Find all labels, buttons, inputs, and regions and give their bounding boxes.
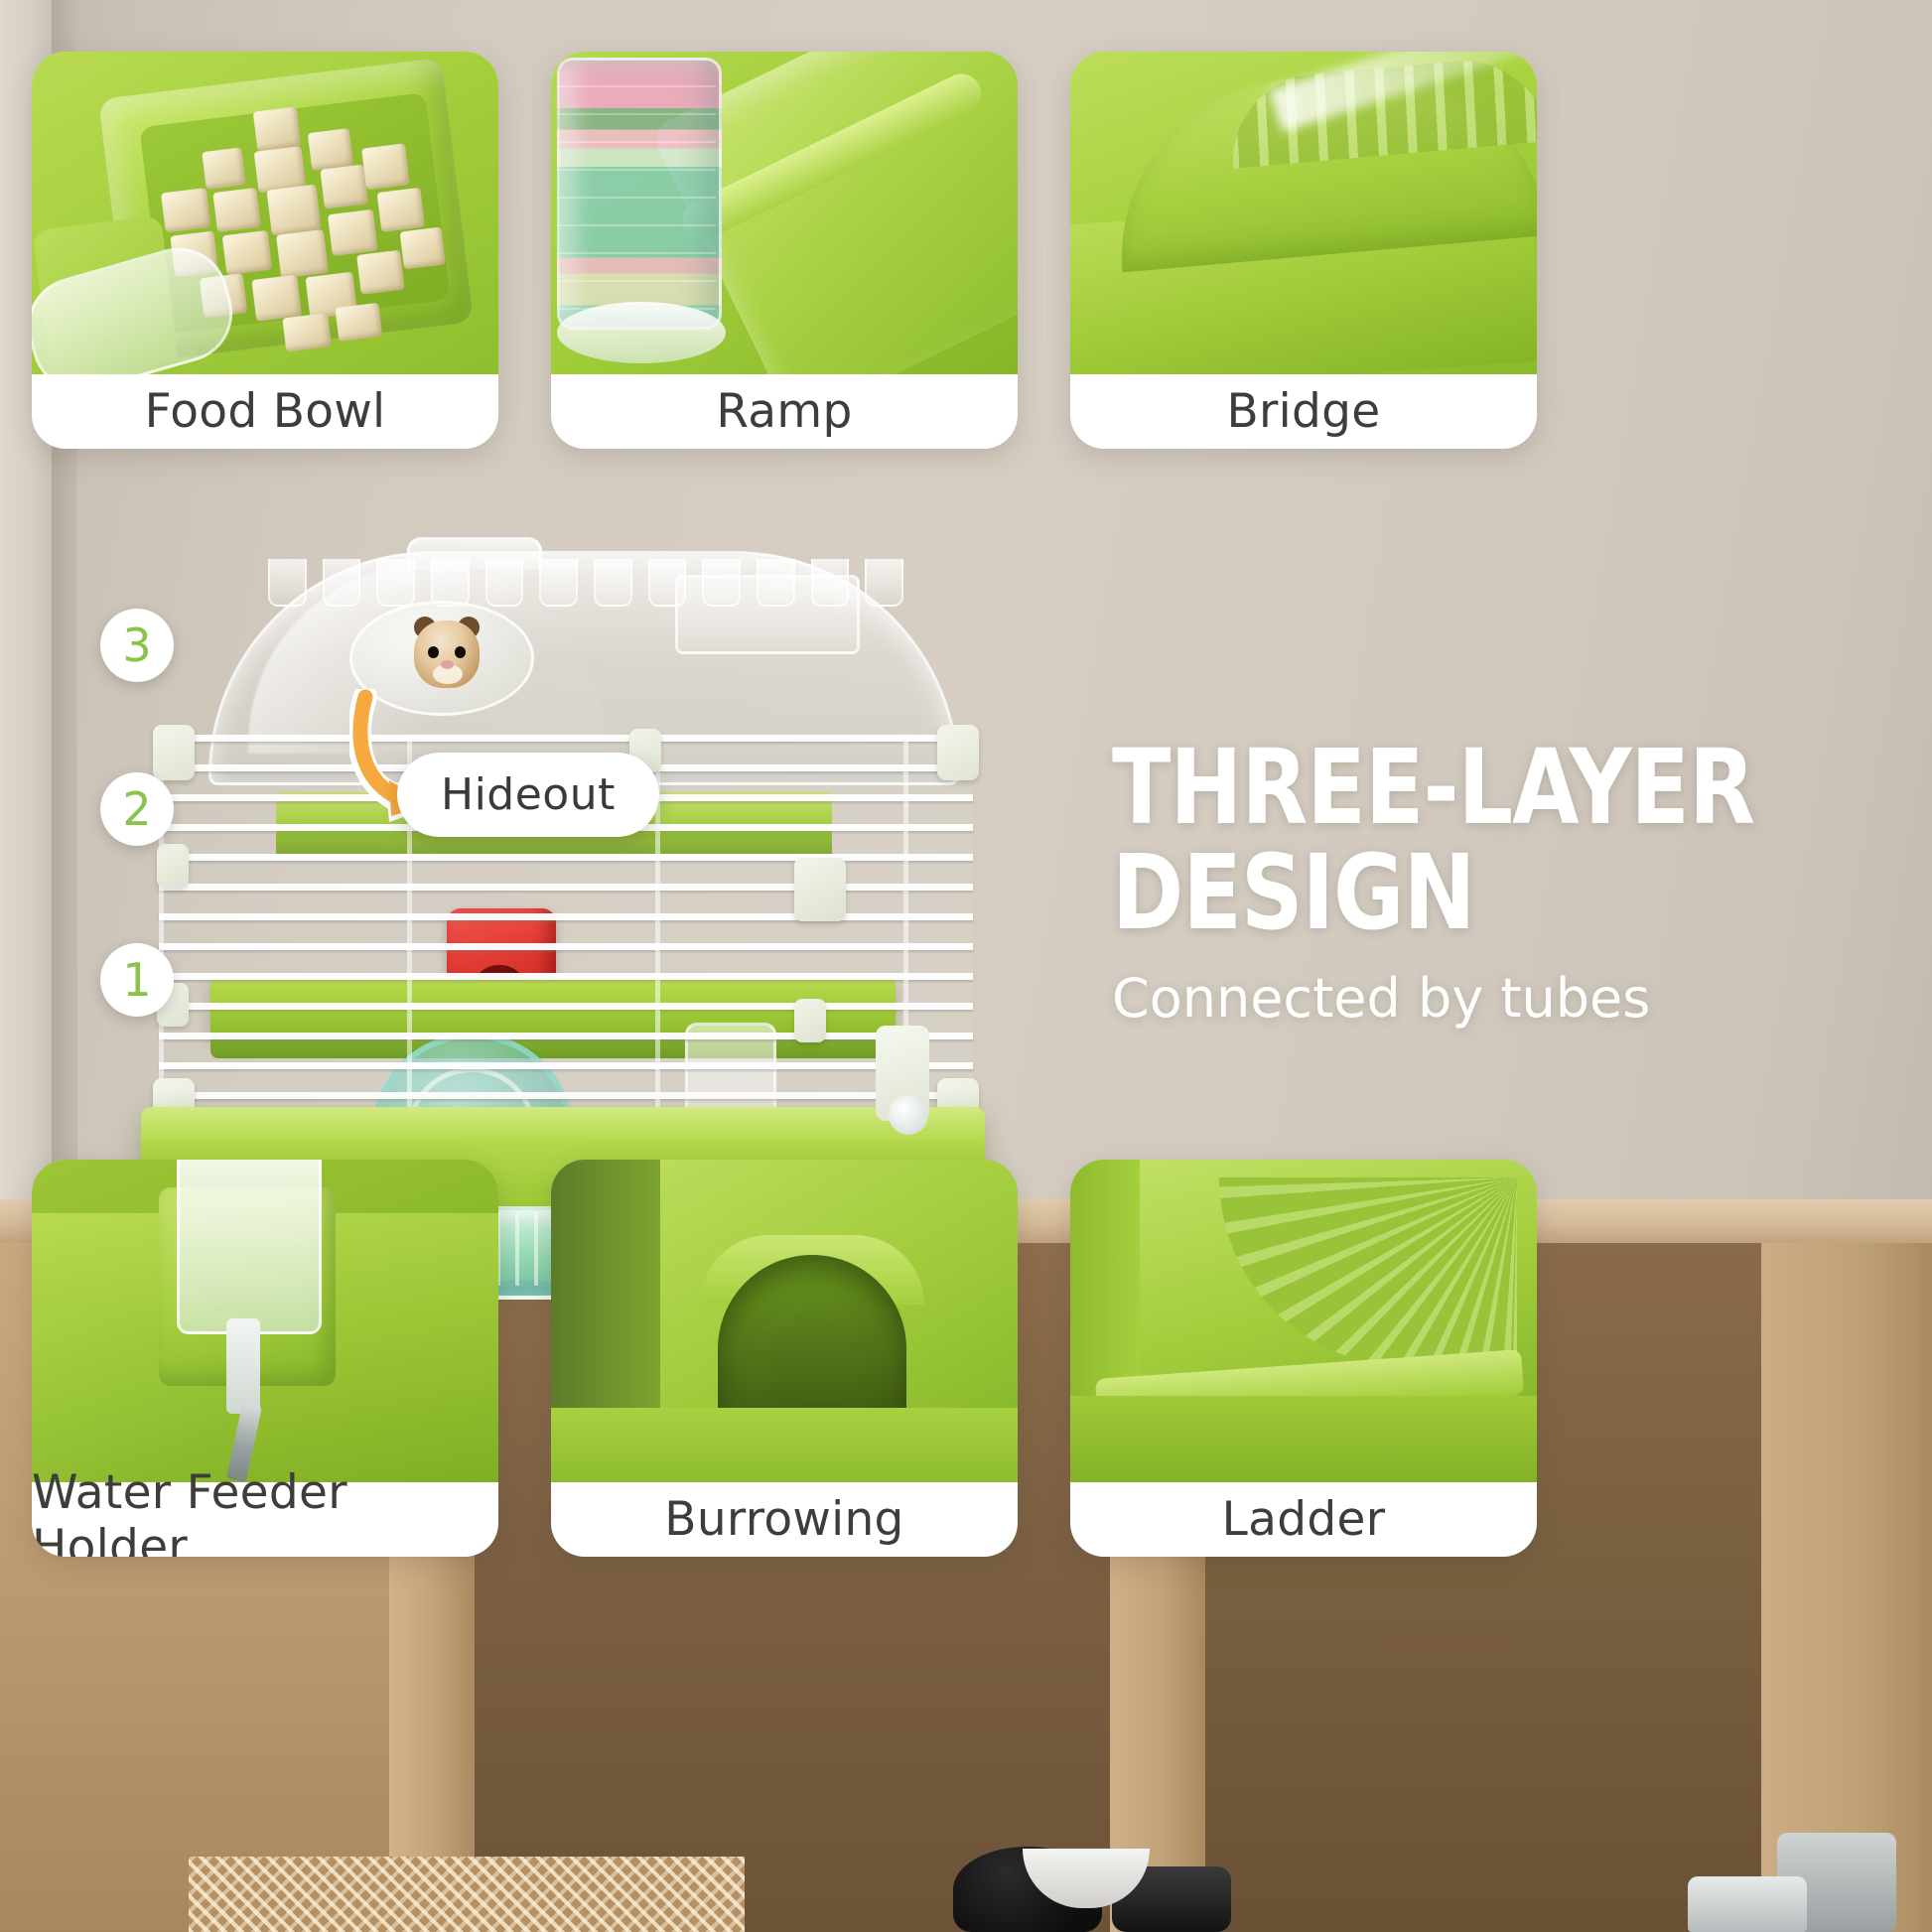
infographic-canvas: PawHut 3 2 1 Hideout THREE-LAYER DESIGN … [0, 0, 1932, 1932]
feature-card-ramp: Ramp [551, 52, 1018, 449]
layer-marker-3-label: 3 [122, 619, 151, 672]
cage-side-clip-right-lower [794, 999, 826, 1042]
headline-subtitle: Connected by tubes [1112, 967, 1906, 1030]
feature-caption-bridge: Bridge [1070, 374, 1537, 449]
shelf-object-white-box [1688, 1876, 1807, 1932]
layer-marker-1: 1 [100, 943, 174, 1017]
feature-photo-ladder [1070, 1160, 1537, 1482]
feature-photo-bridge [1070, 52, 1537, 374]
headline-line-1: THREE-LAYER [1112, 735, 1851, 840]
feature-card-food-bowl: Food Bowl [32, 52, 498, 449]
layer-marker-1-label: 1 [122, 953, 151, 1007]
hamster-eye-right [455, 646, 466, 658]
headline-line-2: DESIGN [1112, 840, 1851, 945]
external-feeder-nozzle [889, 1095, 928, 1135]
layer-marker-2: 2 [100, 772, 174, 846]
feature-caption-burrowing: Burrowing [551, 1482, 1018, 1557]
feature-photo-food-bowl [32, 52, 498, 374]
layer-marker-3: 3 [100, 609, 174, 682]
cage-door-latch [794, 858, 846, 921]
headline-block: THREE-LAYER DESIGN Connected by tubes [1112, 735, 1906, 1030]
feature-caption-ladder: Ladder [1070, 1482, 1537, 1557]
hideout-callout-label: Hideout [441, 769, 616, 820]
feature-photo-burrowing [551, 1160, 1018, 1482]
cabinet-stile-right [1761, 1243, 1932, 1932]
feature-card-ladder: Ladder [1070, 1160, 1537, 1557]
dome-access-lid [675, 575, 860, 654]
hideout-callout-badge: Hideout [397, 753, 659, 837]
feature-caption-ramp: Ramp [551, 374, 1018, 449]
feature-photo-ramp [551, 52, 1018, 374]
cabinet-rattan-basket [189, 1857, 745, 1932]
feature-photo-water-feeder-holder [32, 1160, 498, 1482]
cage-corner-clip-top-right [937, 725, 979, 780]
hamster-eye-left [428, 646, 439, 658]
feature-caption-water-feeder-holder: Water Feeder Holder [32, 1482, 498, 1557]
cage-base-rim [141, 1107, 985, 1141]
feature-card-water-feeder-holder: Water Feeder Holder [32, 1160, 498, 1557]
hamster-photo [410, 607, 483, 688]
cage-corner-clip-top-left [153, 725, 195, 780]
layer-marker-2-label: 2 [122, 782, 151, 836]
hamster-cage-product: PawHut [119, 551, 1033, 1246]
feature-card-burrowing: Burrowing [551, 1160, 1018, 1557]
cage-side-clip-left-upper [157, 844, 189, 888]
feature-caption-food-bowl: Food Bowl [32, 374, 498, 449]
hamster-nose [441, 660, 454, 669]
feature-card-bridge: Bridge [1070, 52, 1537, 449]
dome-handle [407, 537, 542, 570]
